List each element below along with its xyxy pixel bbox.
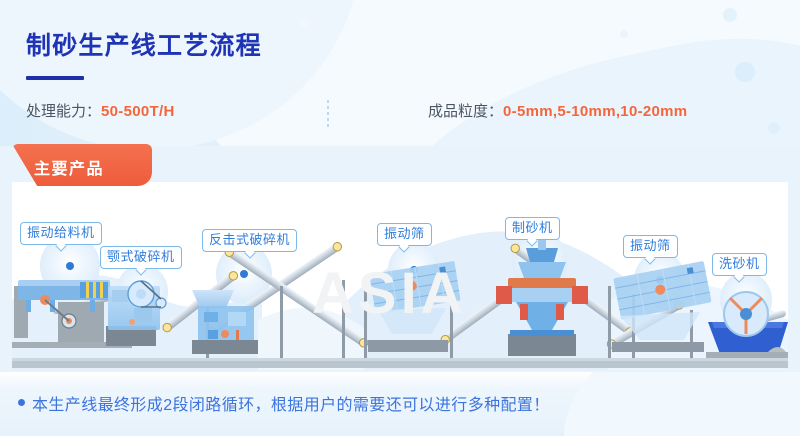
spec-capacity: 处理能力：50-500T/H xyxy=(26,102,175,122)
spec-capacity-value: 50-500T/H xyxy=(101,103,175,120)
bubble-dot-icon xyxy=(300,18,310,28)
label-impact-crusher: 反击式破碎机 xyxy=(202,229,297,252)
page-title: 制砂生产线工艺流程 xyxy=(26,26,262,62)
header-banner xyxy=(0,0,800,146)
footer-bullet-icon xyxy=(18,399,25,406)
bubble-dot-icon xyxy=(723,8,737,22)
footer-curve-decoration xyxy=(539,372,800,436)
footer-note: 本生产线最终形成2段闭路循环，根据用户的需要还可以进行多种配置！ xyxy=(32,391,550,415)
bubble-dot-icon xyxy=(768,122,780,134)
production-line-illustration: ASIA 振动给料机 颚式破碎机 反击式破碎机 振动筛 制砂机 振动筛 洗砂机 xyxy=(12,182,788,370)
spec-output-size-label: 成品粒度： xyxy=(428,103,503,120)
label-sand-washing-machine: 洗砂机 xyxy=(712,253,767,276)
watermark-text: ASIA xyxy=(312,260,642,327)
label-vibrating-feeder: 振动给料机 xyxy=(20,222,102,245)
bubble-dot-icon xyxy=(497,62,521,86)
main-products-badge-label: 主要产品 xyxy=(34,155,104,179)
label-vibrating-screen-2: 振动筛 xyxy=(623,235,678,258)
spec-capacity-label: 处理能力： xyxy=(26,103,101,120)
label-jaw-crusher: 颚式破碎机 xyxy=(100,246,182,269)
infographic-page: 制砂生产线工艺流程 处理能力：50-500T/H 成品粒度：0-5mm,5-10… xyxy=(0,0,800,436)
label-sand-making-machine: 制砂机 xyxy=(505,217,560,240)
bubble-dot-icon xyxy=(620,30,628,38)
spec-output-size: 成品粒度：0-5mm,5-10mm,10-20mm xyxy=(428,102,687,122)
bubble-dot-icon xyxy=(735,62,755,82)
title-underline-rule xyxy=(26,76,84,80)
label-vibrating-screen-1: 振动筛 xyxy=(377,223,432,246)
spec-output-size-value: 0-5mm,5-10mm,10-20mm xyxy=(503,103,687,120)
spec-dotted-divider xyxy=(327,100,329,128)
